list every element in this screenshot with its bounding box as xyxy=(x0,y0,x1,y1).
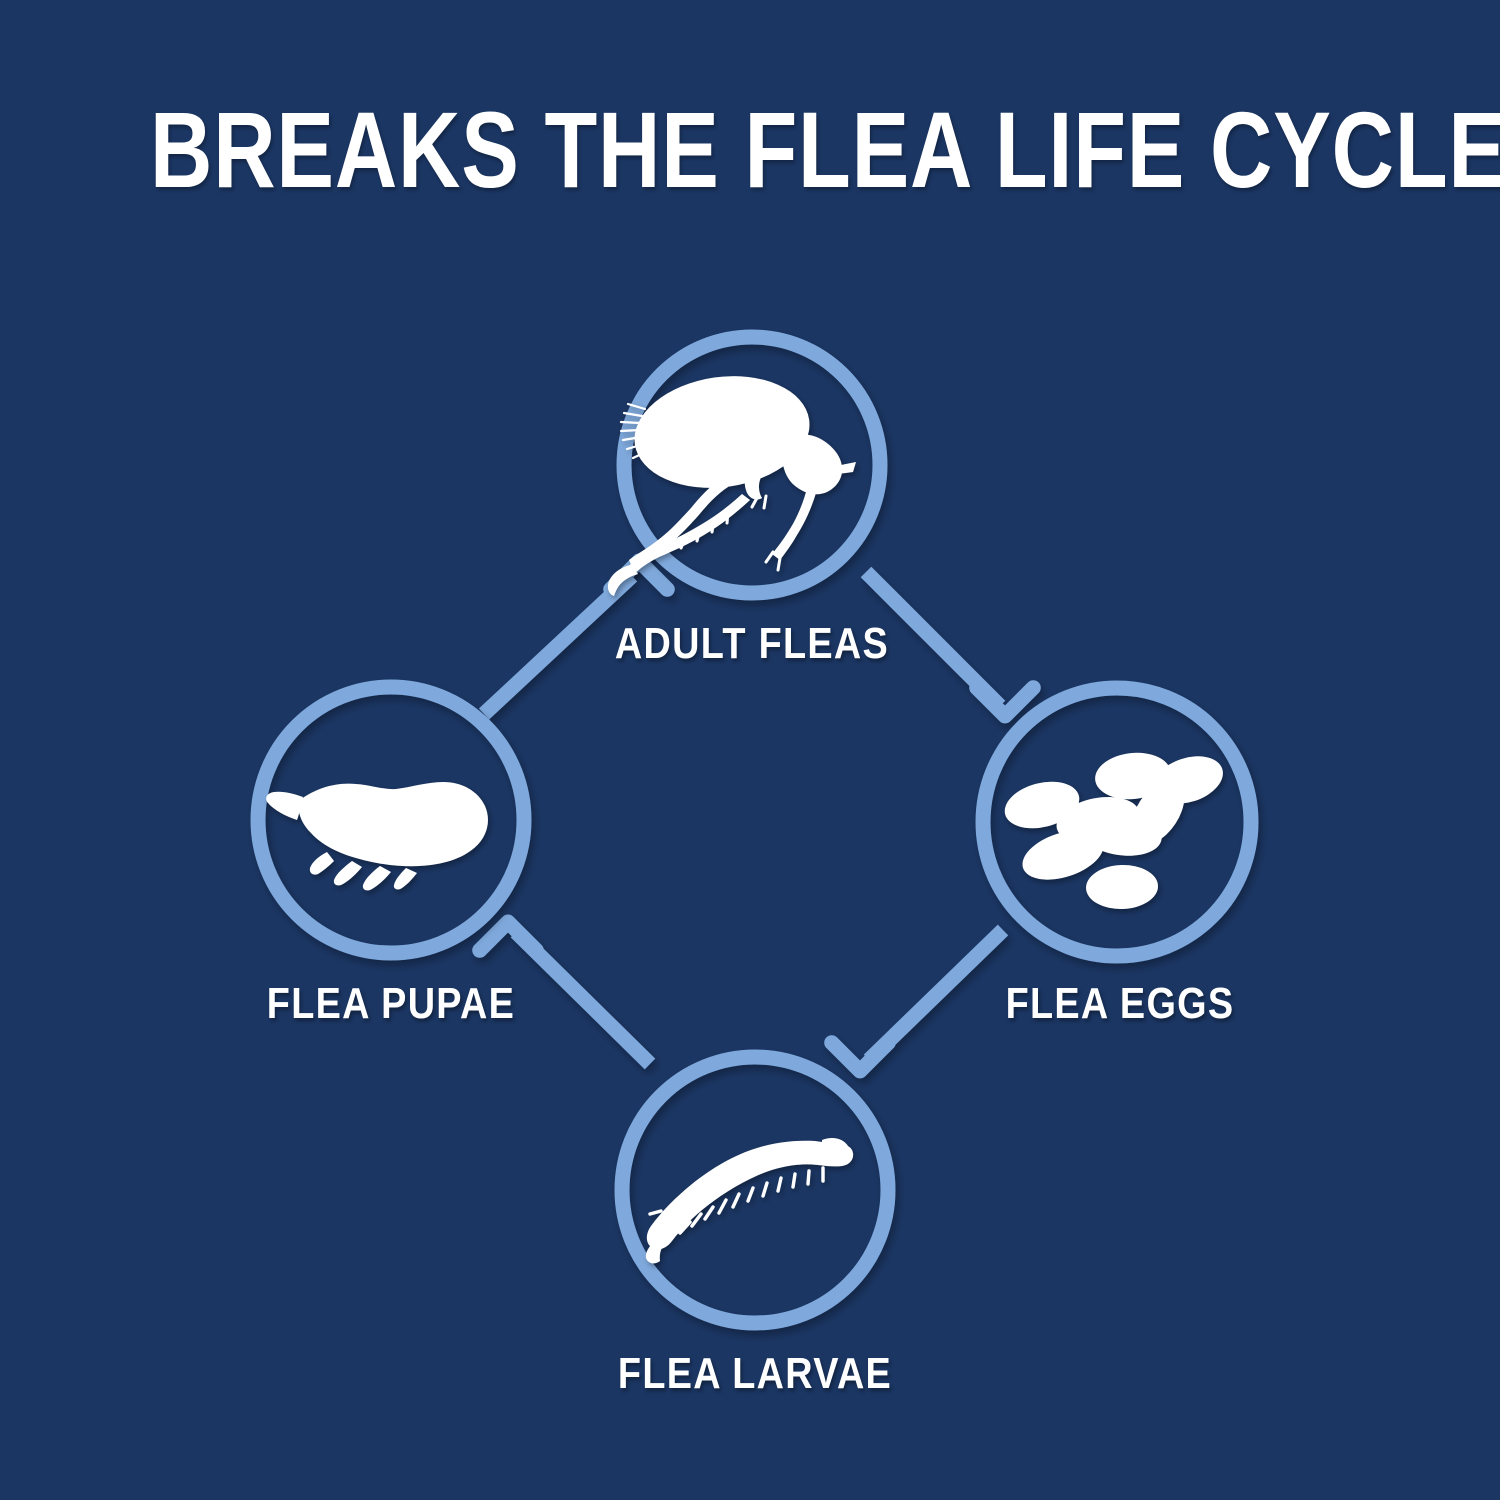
flea-pupa-icon xyxy=(266,782,488,890)
arrowhead-icon xyxy=(480,922,537,979)
arrowhead-icon xyxy=(832,1014,889,1071)
arrowhead-icon xyxy=(977,659,1034,716)
node-label-adult-fleas: ADULT FLEAS xyxy=(537,622,967,666)
node-label-flea-pupae: FLEA PUPAE xyxy=(176,982,606,1026)
flea-life-cycle-poster: BREAKS THE FLEA LIFE CYCLE xyxy=(0,0,1500,1500)
flea-eggs-icon xyxy=(1000,748,1229,910)
node-ring-larvae xyxy=(622,1057,888,1323)
flea-larva-icon xyxy=(646,1138,853,1263)
node-label-flea-eggs: FLEA EGGS xyxy=(905,982,1335,1026)
node-flea-eggs[interactable] xyxy=(983,688,1251,956)
node-adult-fleas[interactable] xyxy=(608,337,880,596)
node-flea-pupae[interactable] xyxy=(258,687,524,953)
node-label-flea-larvae: FLEA LARVAE xyxy=(540,1352,970,1396)
life-cycle-diagram xyxy=(0,0,1500,1500)
node-flea-larvae[interactable] xyxy=(622,1057,888,1323)
